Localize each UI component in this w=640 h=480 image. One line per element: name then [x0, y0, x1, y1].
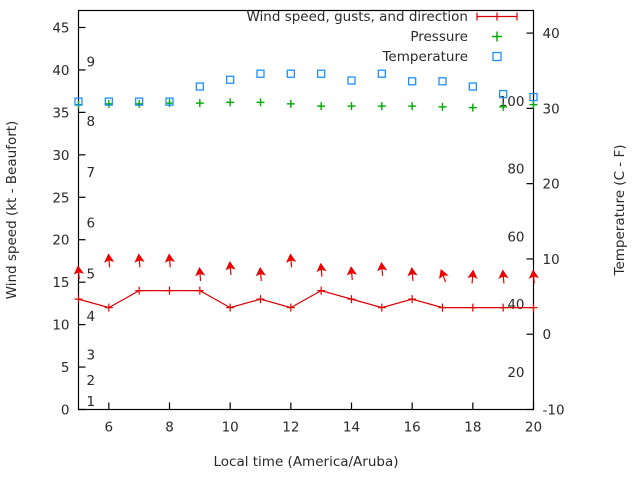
pressure-point [439, 103, 447, 111]
legend-label-wind-speed[interactable]: Wind speed, gusts, and direction [246, 9, 468, 25]
beaufort-label: 6 [87, 216, 96, 232]
beaufort-label: 4 [87, 309, 96, 325]
pressure-point [378, 102, 386, 110]
y-tick-label: 15 [52, 275, 69, 291]
gust-arrow [529, 270, 538, 284]
temperature-point [469, 83, 476, 90]
gust-arrow [437, 269, 449, 284]
pressure-point [226, 98, 234, 106]
beaufort-label: 8 [87, 114, 96, 130]
beaufort-label: 5 [87, 267, 96, 283]
gust-arrow [317, 263, 326, 277]
y-tick-label: 5 [61, 360, 70, 376]
x-axis-title: Local time (America/Aruba) [213, 454, 398, 470]
y-axis-left-labels: 051015202530354045 [52, 20, 69, 418]
x-tick-label: 8 [165, 420, 174, 436]
y-tick-label: 40 [52, 63, 69, 79]
y-tick-label: 25 [52, 190, 69, 206]
gust-arrow [195, 268, 204, 282]
beaufort-label: 9 [87, 54, 96, 70]
x-axis-ticks [109, 403, 534, 410]
legend-marker-pressure[interactable] [492, 32, 502, 42]
gust-arrow [104, 254, 113, 268]
gust-arrow [256, 268, 265, 282]
legend-marker-temperature[interactable] [493, 53, 501, 61]
gust-arrow [135, 254, 144, 268]
weather-chart: 051015202530354045 -10010203040 68101214… [0, 0, 640, 480]
series-gust-direction-arrows [74, 254, 538, 284]
y2-tick-label: -10 [543, 403, 565, 419]
legend-label-pressure[interactable]: Pressure [410, 29, 468, 45]
beaufort-label: 2 [87, 373, 96, 389]
pressure-point [408, 102, 416, 110]
temperature-point [196, 83, 203, 90]
y-tick-label: 20 [52, 233, 69, 249]
y-axis-left-title: Wind speed (kt - Beaufort) [4, 121, 20, 300]
pressure-point [287, 100, 295, 108]
pressure-point [196, 99, 204, 107]
x-axis-labels: 68101214161820 [105, 420, 543, 436]
gust-arrow [74, 266, 83, 280]
x-tick-label: 16 [404, 420, 421, 436]
y-tick-label: 10 [52, 318, 69, 334]
pressure-label: 40 [507, 297, 524, 313]
chart-canvas: 051015202530354045 -10010203040 68101214… [0, 0, 640, 480]
y-tick-label: 45 [52, 20, 69, 36]
y-axis-left-ticks [79, 27, 86, 409]
gust-arrow [347, 267, 356, 281]
pressure-point [469, 104, 477, 112]
x-tick-label: 10 [222, 420, 239, 436]
temperature-point [227, 76, 234, 83]
y2-tick-label: 30 [543, 101, 560, 117]
x-tick-label: 12 [282, 420, 299, 436]
x-tick-label: 14 [343, 420, 360, 436]
x-tick-label: 6 [105, 420, 114, 436]
y-axis-right-ticks [527, 33, 534, 409]
legend-marker-wind-speed[interactable] [477, 13, 517, 21]
beaufort-label: 3 [87, 347, 96, 363]
gust-arrow [468, 270, 477, 284]
gust-arrow [286, 254, 295, 268]
pressure-label: 60 [507, 229, 524, 245]
y-axis-right-labels: -10010203040 [543, 26, 565, 418]
gust-arrow [499, 270, 508, 284]
plot-frame [79, 11, 534, 410]
pressure-scale-labels: 20406080100 [499, 94, 525, 381]
series-wind-speed [75, 287, 538, 312]
y2-tick-label: 0 [543, 327, 552, 343]
gust-arrow [377, 263, 386, 277]
legend-label-temperature[interactable]: Temperature [381, 49, 468, 65]
pressure-label: 80 [507, 162, 524, 178]
y-axis-right-title: Temperature (C - F) [612, 145, 628, 277]
temperature-point [409, 78, 416, 85]
pressure-point [257, 98, 265, 106]
y2-tick-label: 20 [543, 177, 560, 193]
temperature-point [439, 78, 446, 85]
temperature-point [287, 70, 294, 77]
wind-speed-line [79, 291, 534, 308]
y-tick-label: 0 [61, 403, 70, 419]
series-temperature [75, 70, 537, 105]
y-tick-label: 35 [52, 105, 69, 121]
x-tick-label: 20 [525, 420, 542, 436]
temperature-point [318, 70, 325, 77]
pressure-point [317, 102, 325, 110]
series-pressure [75, 98, 538, 111]
gust-arrow [408, 268, 417, 282]
temperature-point [378, 70, 385, 77]
pressure-point [530, 101, 538, 109]
temperature-point [348, 77, 355, 84]
temperature-point [257, 70, 264, 77]
gust-arrow [165, 254, 174, 268]
pressure-label: 20 [507, 365, 524, 381]
y-tick-label: 30 [52, 148, 69, 164]
beaufort-label: 7 [87, 165, 96, 181]
x-tick-label: 18 [464, 420, 481, 436]
pressure-point [105, 100, 113, 108]
y2-tick-label: 40 [543, 26, 560, 42]
beaufort-scale-labels: 123456789 [87, 54, 96, 410]
beaufort-label: 1 [87, 394, 96, 410]
y2-tick-label: 10 [543, 252, 560, 268]
pressure-point [135, 100, 143, 108]
gust-arrow [226, 262, 235, 276]
chart-legend: Wind speed, gusts, and direction Pressur… [246, 9, 517, 65]
pressure-point [166, 99, 174, 107]
pressure-point [348, 102, 356, 110]
